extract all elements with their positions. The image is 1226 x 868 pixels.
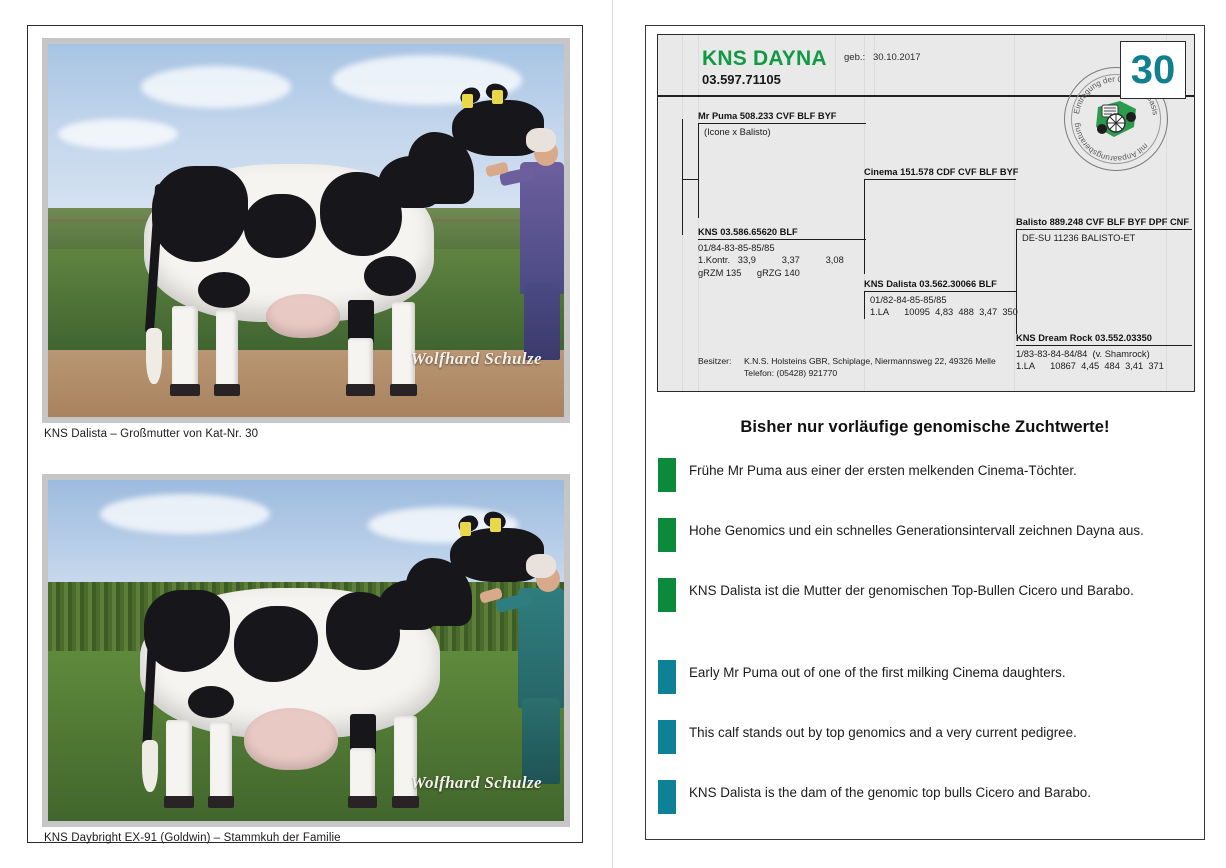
bullet-square-teal-icon <box>658 720 676 754</box>
photo-block-dalista: Wolfhard Schulze KNS Dalista – Großmutte… <box>42 38 570 440</box>
catalog-number-badge: 30 <box>1120 41 1186 99</box>
owner-info: Besitzer:K.N.S. Holsteins GBR, Schiplage… <box>698 355 996 379</box>
pedigree-cell-great-granddam: KNS Dream Rock 03.552.03350 1/83-83-84-8… <box>1016 333 1192 373</box>
owner-label: Besitzer: <box>698 355 744 367</box>
animal-name: KNS DAYNA <box>702 47 827 71</box>
photo-frame-daybright: Wolfhard Schulze <box>42 474 570 827</box>
dam-line-3: gRZM 135 gRZG 140 <box>698 267 866 280</box>
stamp-emblem-icon <box>1090 97 1142 141</box>
bullet-item-de-1: Frühe Mr Puma aus einer der ersten melke… <box>658 456 1194 516</box>
page-spine-divider <box>612 0 613 868</box>
photo-block-daybright: Wolfhard Schulze KNS Daybright EX-91 (Go… <box>42 474 570 844</box>
photo-watermark: Wolfhard Schulze <box>411 773 542 793</box>
photo-caption-dalista: KNS Dalista – Großmutter von Kat-Nr. 30 <box>42 423 570 440</box>
bullet-text: KNS Dalista ist die Mutter der genomisch… <box>689 576 1134 598</box>
bullet-item-en-2: This calf stands out by top genomics and… <box>658 718 1194 778</box>
great-grandsire-line-1: DE-SU 11236 BALISTO-ET <box>1022 232 1192 245</box>
catalog-number-value: 30 <box>1131 50 1176 90</box>
great-granddam-title: KNS Dream Rock 03.552.03350 <box>1016 333 1192 346</box>
dam-line-2: 1.Kontr. 33,9 3,37 3,08 <box>698 254 866 267</box>
bullet-item-en-1: Early Mr Puma out of one of the first mi… <box>658 658 1194 718</box>
bullet-square-teal-icon <box>658 660 676 694</box>
photo-watermark: Wolfhard Schulze <box>411 349 542 369</box>
great-granddam-line-2: 1.LA 10867 4,45 484 3,41 371 <box>1016 360 1192 373</box>
left-page: Wolfhard Schulze KNS Dalista – Großmutte… <box>27 25 583 843</box>
dam-line-1: 01/84-83-85-85/85 <box>698 242 866 255</box>
dam-title: KNS 03.586.65620 BLF <box>698 227 866 240</box>
cow-photo-dalista: Wolfhard Schulze <box>48 44 564 417</box>
bullet-text: This calf stands out by top genomics and… <box>689 718 1077 740</box>
catalog-spread: Wolfhard Schulze KNS Dalista – Großmutte… <box>0 0 1226 868</box>
photo-frame-dalista: Wolfhard Schulze <box>42 38 570 423</box>
bullet-square-teal-icon <box>658 780 676 814</box>
maternal-grandsire-title: Cinema 151.578 CDF CVF BLF BYF <box>864 167 1016 180</box>
owner-address: K.N.S. Holsteins GBR, Schiplage, Nierman… <box>744 356 996 366</box>
pedigree-cell-maternal-grandsire: Cinema 151.578 CDF CVF BLF BYF <box>864 167 1016 274</box>
bullet-square-green-icon <box>658 458 676 492</box>
bullet-text: Frühe Mr Puma aus einer der ersten melke… <box>689 456 1077 478</box>
bullet-text: Early Mr Puma out of one of the first mi… <box>689 658 1066 680</box>
pedigree-cell-sire: Mr Puma 508.233 CVF BLF BYF (Icone x Bal… <box>698 111 866 218</box>
great-granddam-line-1: 1/83-83-84-84/84 (v. Shamrock) <box>1016 348 1192 361</box>
maternal-granddam-line-1: 01/82-84-85-85/85 <box>870 294 1016 307</box>
bullet-text: KNS Dalista is the dam of the genomic to… <box>689 778 1091 800</box>
bullet-square-green-icon <box>658 518 676 552</box>
birth-date-label: geb.: <box>844 52 865 63</box>
pedigree-card: KNS DAYNA 03.597.71105 geb.: 30.10.2017 … <box>657 34 1195 392</box>
bullet-list: Frühe Mr Puma aus einer der ersten melke… <box>658 456 1194 838</box>
bullet-square-green-icon <box>658 578 676 612</box>
birth-date-value: 30.10.2017 <box>873 52 921 63</box>
maternal-granddam-title: KNS Dalista 03.562.30066 BLF <box>864 279 1016 292</box>
pedigree-cell-maternal-granddam: KNS Dalista 03.562.30066 BLF 01/82-84-85… <box>864 279 1016 319</box>
bullet-group-separator <box>658 636 1194 658</box>
bullet-text: Hohe Genomics und ein schnelles Generati… <box>689 516 1144 538</box>
pedigree-cell-dam: KNS 03.586.65620 BLF 01/84-83-85-85/85 1… <box>698 227 866 279</box>
bullet-item-en-3: KNS Dalista is the dam of the genomic to… <box>658 778 1194 838</box>
sire-line-1: (Icone x Balisto) <box>704 126 866 139</box>
bullet-item-de-2: Hohe Genomics und ein schnelles Generati… <box>658 516 1194 576</box>
page-headline: Bisher nur vorläufige genomische Zuchtwe… <box>646 418 1204 437</box>
right-page: KNS DAYNA 03.597.71105 geb.: 30.10.2017 … <box>645 25 1205 840</box>
owner-phone: Telefon: (05428) 921770 <box>698 367 996 379</box>
great-grandsire-title: Balisto 889.248 CVF BLF BYF DPF CNF <box>1016 217 1192 230</box>
animal-id: 03.597.71105 <box>702 72 781 87</box>
bullet-item-de-3: KNS Dalista ist die Mutter der genomisch… <box>658 576 1194 636</box>
cow-photo-daybright: Wolfhard Schulze <box>48 480 564 821</box>
pedigree-cell-great-grandsire: Balisto 889.248 CVF BLF BYF DPF CNF DE-S… <box>1016 217 1192 334</box>
maternal-granddam-line-2: 1.LA 10095 4,83 488 3,47 350 <box>870 306 1016 319</box>
photo-caption-daybright: KNS Daybright EX-91 (Goldwin) – Stammkuh… <box>42 827 570 844</box>
sire-title: Mr Puma 508.233 CVF BLF BYF <box>698 111 866 124</box>
